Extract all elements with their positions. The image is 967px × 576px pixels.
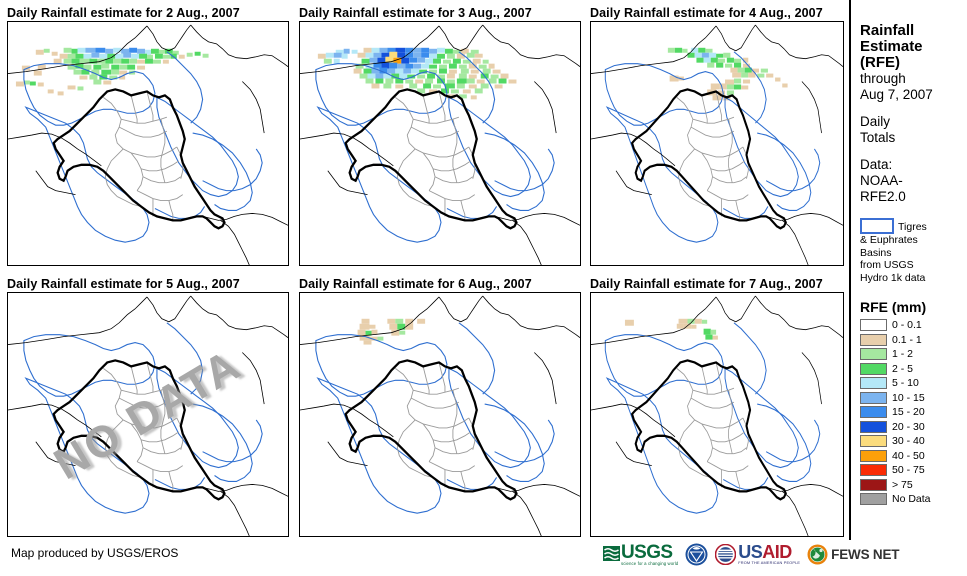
rain-cell xyxy=(718,59,725,63)
rain-cell xyxy=(344,49,350,54)
rain-cell xyxy=(691,325,696,329)
rain-cell xyxy=(411,69,419,74)
rain-cell xyxy=(64,48,72,53)
legend-swatch xyxy=(860,348,887,360)
rain-cell xyxy=(52,52,58,56)
rain-cell xyxy=(425,79,433,84)
rain-cell xyxy=(677,324,684,329)
rain-cell xyxy=(397,324,405,330)
rain-cell xyxy=(433,84,441,88)
rain-cell xyxy=(163,55,171,59)
rain-cell xyxy=(383,83,391,88)
rain-cell xyxy=(499,79,507,84)
rain-cell xyxy=(696,58,703,63)
rain-cell xyxy=(421,48,429,53)
rain-cell xyxy=(463,89,471,93)
rain-cell xyxy=(705,335,712,340)
fews-net-logo[interactable]: FEWS NET xyxy=(807,544,899,565)
rain-cell xyxy=(137,49,145,54)
rain-cell xyxy=(387,319,395,324)
rain-cell xyxy=(111,65,119,70)
rain-cell xyxy=(377,337,383,341)
rain-cell xyxy=(473,59,481,64)
rain-cell xyxy=(483,69,491,74)
sidebar-totals-line1: Daily xyxy=(860,114,967,130)
rain-cell xyxy=(159,50,165,54)
legend-swatch xyxy=(860,435,887,447)
rain-cell xyxy=(326,53,334,58)
fews-globe-icon xyxy=(807,544,828,565)
rain-cell xyxy=(111,70,119,75)
rain-cell xyxy=(501,74,509,79)
rain-cell xyxy=(354,69,362,74)
map-frame[interactable]: NO DATA xyxy=(7,292,289,537)
rain-cell xyxy=(405,80,413,84)
rain-cell xyxy=(782,83,787,87)
rain-cell xyxy=(68,85,76,89)
rain-cell xyxy=(489,64,495,69)
rain-cell xyxy=(429,54,437,59)
legend-row: 0.1 - 1 xyxy=(860,333,967,348)
usaid-label-aid: AID xyxy=(762,542,792,562)
neighbour-borders xyxy=(8,296,288,536)
legend-swatch xyxy=(860,421,887,433)
rain-cell xyxy=(362,319,370,324)
rain-cell xyxy=(727,84,734,89)
rain-cell xyxy=(145,59,153,64)
rain-cell xyxy=(405,64,413,69)
rain-cell xyxy=(48,89,54,93)
rain-cell xyxy=(395,69,403,74)
rain-cell xyxy=(425,59,433,64)
legend-swatch xyxy=(860,319,887,331)
rain-cell xyxy=(471,70,479,74)
rain-cell xyxy=(459,74,467,79)
usaid-label-us: US xyxy=(738,542,762,562)
rain-cell xyxy=(95,48,105,53)
rain-cell xyxy=(78,48,86,53)
legend-row: 50 - 75 xyxy=(860,463,967,478)
rain-cell xyxy=(469,75,477,79)
rain-cell xyxy=(682,49,687,53)
rain-cell xyxy=(679,319,688,324)
rain-cell xyxy=(775,78,780,82)
rain-cell xyxy=(397,64,405,69)
usgs-tagline: science for a changing world xyxy=(621,561,678,566)
map-svg xyxy=(8,293,288,536)
rain-cell xyxy=(734,79,741,84)
rain-cell xyxy=(76,54,84,59)
map-panel-2[interactable]: Daily Rainfall estimate for 3 Aug., 2007 xyxy=(299,5,581,266)
rain-cell xyxy=(324,59,332,64)
rain-cell xyxy=(447,54,455,59)
map-panel-5[interactable]: Daily Rainfall estimate for 6 Aug., 2007 xyxy=(299,276,581,537)
rain-cell xyxy=(360,324,370,330)
rain-cell xyxy=(730,68,737,73)
rain-cell xyxy=(423,83,431,88)
usgs-logo[interactable]: USGS science for a changing world xyxy=(603,544,678,566)
rain-cell xyxy=(738,68,745,73)
rain-cell xyxy=(495,84,503,88)
rain-cell xyxy=(370,58,378,63)
rain-cell xyxy=(113,59,121,64)
basin-legend: Tigres & Euphrates Basins from USGS Hydr… xyxy=(860,218,967,284)
rain-cell xyxy=(362,59,370,64)
rain-cell xyxy=(93,80,101,85)
rain-cell xyxy=(16,82,24,87)
map-frame[interactable] xyxy=(590,21,844,266)
rain-cell xyxy=(36,50,44,55)
rain-cell xyxy=(727,58,734,63)
rain-cell xyxy=(366,53,374,58)
rain-cell xyxy=(457,54,465,59)
rain-cell xyxy=(417,75,425,79)
rain-cell xyxy=(375,74,383,79)
rain-cell xyxy=(741,73,748,78)
rain-cell xyxy=(413,53,421,58)
rain-cell xyxy=(427,74,435,79)
rain-cell xyxy=(479,65,487,69)
rain-cell xyxy=(358,330,366,336)
legend-swatch xyxy=(860,464,887,476)
rfe-legend: 0 - 0.10.1 - 11 - 22 - 55 - 1010 - 1515 … xyxy=(860,318,967,507)
panel-title: Daily Rainfall estimate for 6 Aug., 2007 xyxy=(299,276,581,292)
rain-cell xyxy=(471,95,477,99)
noaa-seal-icon xyxy=(685,543,708,566)
rain-cell xyxy=(761,69,768,73)
panel-title: Daily Rainfall estimate for 5 Aug., 2007 xyxy=(7,276,289,292)
rain-cell xyxy=(417,319,425,324)
river-basins xyxy=(605,323,819,513)
rain-cell xyxy=(383,74,391,79)
rain-cell xyxy=(716,63,723,68)
rain-cell xyxy=(707,63,714,68)
rain-cell xyxy=(457,79,467,84)
agency-logos: USGS science for a changing world xyxy=(603,543,899,566)
rain-cell xyxy=(91,53,99,58)
rain-cell xyxy=(89,75,97,80)
map-frame[interactable] xyxy=(590,292,844,537)
legend-label: 5 - 10 xyxy=(892,377,919,389)
rain-cell xyxy=(429,65,437,69)
map-panel-4[interactable]: Daily Rainfall estimate for 5 Aug., 2007… xyxy=(7,276,289,537)
rain-cell xyxy=(459,65,467,69)
rain-cell xyxy=(461,69,469,74)
rain-cell xyxy=(121,59,129,64)
legend-label: 15 - 20 xyxy=(892,406,925,418)
legend-row: No Data xyxy=(860,492,967,507)
rain-cell xyxy=(389,324,397,330)
fews-net-label: FEWS NET xyxy=(831,547,899,562)
rain-cell xyxy=(483,60,489,64)
rain-cell xyxy=(711,330,716,335)
rain-cell xyxy=(119,65,127,70)
legend-label: 30 - 40 xyxy=(892,435,925,447)
noaa-logo[interactable] xyxy=(685,543,708,566)
rain-cell xyxy=(467,79,475,84)
sidebar-data-line3: RFE2.0 xyxy=(860,189,967,205)
neighbour-borders xyxy=(300,296,580,536)
rain-cell xyxy=(34,71,42,76)
rain-cell xyxy=(115,54,123,59)
rain-cell xyxy=(748,73,755,78)
rain-cell xyxy=(195,52,201,56)
rain-cell xyxy=(30,82,36,86)
sidebar-title-line3: (RFE) xyxy=(860,55,967,71)
iraq-border xyxy=(632,360,786,499)
rain-cell xyxy=(395,319,403,324)
rain-cell xyxy=(732,73,741,78)
rain-cell xyxy=(187,53,193,57)
legend-label: 50 - 75 xyxy=(892,464,925,476)
rain-cell xyxy=(409,83,417,88)
basin-label-1: Tigres xyxy=(898,218,927,233)
rain-cell xyxy=(443,60,451,64)
rain-cell xyxy=(439,65,447,69)
rain-cell xyxy=(64,59,72,64)
map-svg xyxy=(300,293,580,536)
rain-cell xyxy=(342,54,348,59)
rain-cell xyxy=(373,53,381,58)
rain-cell xyxy=(453,59,461,64)
rain-cell xyxy=(451,89,459,93)
legend-row: 15 - 20 xyxy=(860,405,967,420)
rain-cell xyxy=(723,53,730,58)
legend-row: 0 - 0.1 xyxy=(860,318,967,333)
rain-cell xyxy=(743,80,750,84)
rain-cell xyxy=(716,54,723,58)
rain-cell xyxy=(405,48,413,53)
legend-swatch xyxy=(860,493,887,505)
rfe-map-page: Daily Rainfall estimate for 2 Aug., 2007… xyxy=(0,0,967,576)
iraq-border xyxy=(54,360,225,499)
rain-cell xyxy=(123,53,131,58)
rain-cell xyxy=(364,48,372,53)
rain-cell xyxy=(725,64,732,68)
rain-cell xyxy=(44,49,50,53)
rain-cell xyxy=(734,59,741,63)
rain-cell xyxy=(395,84,403,88)
basin-swatch xyxy=(860,218,894,234)
rain-cell xyxy=(147,55,153,59)
rain-cell xyxy=(334,53,342,58)
rain-cell xyxy=(457,83,465,88)
map-svg xyxy=(591,22,843,265)
basin-label-2: & Euphrates xyxy=(860,234,967,247)
map-credit: Map produced by USGS/EROS xyxy=(11,546,178,560)
rain-cell xyxy=(334,59,340,64)
rain-cell xyxy=(409,58,417,63)
rain-cell xyxy=(704,329,711,335)
rain-cell xyxy=(366,79,374,84)
rain-cell xyxy=(433,59,441,64)
rain-cell xyxy=(704,58,711,63)
panel-title: Daily Rainfall estimate for 7 Aug., 2007 xyxy=(590,276,844,292)
rain-cell xyxy=(467,53,475,58)
rain-cell xyxy=(72,59,80,64)
rain-cell xyxy=(413,64,421,69)
legend-label: 0.1 - 1 xyxy=(892,334,922,346)
map-panel-3[interactable]: Daily Rainfall estimate for 4 Aug., 2007 xyxy=(590,5,844,266)
rain-cell xyxy=(705,49,712,53)
rain-cell xyxy=(399,331,405,335)
map-frame[interactable] xyxy=(299,21,581,266)
rain-cell xyxy=(370,325,376,329)
usaid-label: USAID xyxy=(738,544,800,560)
basin-label-4: from USGS xyxy=(860,259,967,272)
rain-cell xyxy=(711,83,720,89)
rain-cell xyxy=(429,49,437,54)
map-panel-1[interactable]: Daily Rainfall estimate for 2 Aug., 2007 xyxy=(7,5,289,266)
sidebar-through-date: Aug 7, 2007 xyxy=(860,87,967,103)
sidebar-title-line1: Rainfall xyxy=(860,23,967,39)
neighbour-borders xyxy=(591,296,843,536)
rain-cell xyxy=(709,53,716,58)
legend-row: > 75 xyxy=(860,478,967,493)
rain-cell xyxy=(445,49,453,54)
river-basins xyxy=(24,52,262,242)
legend-label: 0 - 0.1 xyxy=(892,319,922,331)
legend-label: No Data xyxy=(892,493,931,505)
legend-label: 1 - 2 xyxy=(892,348,913,360)
sidebar-through: through xyxy=(860,71,967,87)
rain-cell xyxy=(137,60,145,64)
rain-cell xyxy=(85,48,95,53)
legend-row: 2 - 5 xyxy=(860,362,967,377)
map-frame[interactable] xyxy=(7,21,289,266)
legend-row: 1 - 2 xyxy=(860,347,967,362)
river-basins xyxy=(24,323,262,513)
rain-cell xyxy=(447,74,455,79)
rain-cell xyxy=(405,319,413,324)
rain-cell xyxy=(385,57,393,64)
river-basins xyxy=(316,323,554,513)
usgs-wave-icon xyxy=(603,545,620,565)
rain-cell xyxy=(711,58,718,63)
rain-cell xyxy=(741,85,748,89)
rain-cell xyxy=(72,49,78,54)
rain-cell xyxy=(475,54,483,58)
legend-swatch xyxy=(860,406,887,418)
legend-swatch xyxy=(860,479,887,491)
panel-title: Daily Rainfall estimate for 4 Aug., 2007 xyxy=(590,5,844,21)
rain-cell xyxy=(509,80,517,84)
rain-cell xyxy=(417,58,425,63)
legend-row: 20 - 30 xyxy=(860,420,967,435)
rain-cell xyxy=(437,48,445,53)
rain-cell xyxy=(695,53,702,58)
rain-cell xyxy=(481,83,489,88)
rain-cell xyxy=(113,48,121,53)
rain-cell xyxy=(447,80,455,84)
legend-sidebar: Rainfall Estimate (RFE) through Aug 7, 2… xyxy=(849,0,967,540)
sidebar-title-line2: Estimate xyxy=(860,39,967,55)
rain-cell xyxy=(702,53,709,58)
rain-cell xyxy=(364,341,372,345)
rfe-legend-title: RFE (mm) xyxy=(860,299,967,315)
rain-cell xyxy=(415,80,423,84)
rain-cell xyxy=(203,54,209,58)
usaid-tagline: FROM THE AMERICAN PEOPLE xyxy=(738,560,800,565)
iraq-border xyxy=(54,89,225,228)
legend-label: 10 - 15 xyxy=(892,392,925,404)
rain-cell xyxy=(129,48,137,53)
rain-cell xyxy=(360,74,368,79)
rain-cell xyxy=(153,60,161,64)
legend-label: 40 - 50 xyxy=(892,450,925,462)
rainfall-raster xyxy=(358,319,426,345)
rain-cell xyxy=(101,64,109,69)
rain-cell xyxy=(445,83,455,88)
panel-title: Daily Rainfall estimate for 2 Aug., 2007 xyxy=(7,5,289,21)
legend-swatch xyxy=(860,392,887,404)
legend-swatch xyxy=(860,363,887,375)
legend-label: 2 - 5 xyxy=(892,363,913,375)
rain-cell xyxy=(171,54,177,59)
rainfall-raster xyxy=(625,319,718,340)
rain-cell xyxy=(491,75,499,79)
sidebar-data-line2: NOAA- xyxy=(860,173,967,189)
rain-cell xyxy=(352,50,358,54)
rain-cell xyxy=(475,88,483,93)
rain-cell xyxy=(439,69,447,74)
rain-cell xyxy=(375,79,383,84)
rain-cell xyxy=(421,53,429,58)
rain-cell xyxy=(179,55,185,59)
map-panel-6[interactable]: Daily Rainfall estimate for 7 Aug., 2007 xyxy=(590,276,844,537)
rain-cell xyxy=(379,48,387,53)
legend-label: 20 - 30 xyxy=(892,421,925,433)
map-svg xyxy=(591,293,843,536)
rain-cell xyxy=(387,69,395,74)
rain-cell xyxy=(74,70,82,75)
rain-cell xyxy=(403,69,411,74)
rain-cell xyxy=(368,74,376,79)
map-svg xyxy=(8,22,288,265)
map-frame[interactable] xyxy=(299,292,581,537)
rain-cell xyxy=(625,320,634,326)
rain-cell xyxy=(83,54,91,59)
rain-cell xyxy=(766,74,773,78)
iraq-border xyxy=(632,89,786,228)
rain-cell xyxy=(318,54,326,59)
legend-row: 5 - 10 xyxy=(860,376,967,391)
rain-cell xyxy=(137,66,145,70)
rain-cell xyxy=(38,83,44,87)
rain-cell xyxy=(675,48,682,53)
rain-cell xyxy=(668,48,675,53)
rain-cell xyxy=(105,49,113,54)
legend-swatch xyxy=(860,450,887,462)
rain-cell xyxy=(101,70,111,75)
rain-cell xyxy=(364,69,372,74)
rain-cell xyxy=(54,59,62,64)
rain-cell xyxy=(385,79,393,84)
rain-cell xyxy=(437,54,445,59)
rain-cell xyxy=(399,74,407,79)
legend-label: > 75 xyxy=(892,479,913,491)
river-basins xyxy=(605,52,819,242)
usaid-logo[interactable]: USAID FROM THE AMERICAN PEOPLE xyxy=(715,544,800,565)
iraq-border xyxy=(346,89,517,228)
rain-cell xyxy=(371,48,379,53)
legend-row: 10 - 15 xyxy=(860,391,967,406)
rain-cell xyxy=(469,84,477,88)
rain-cell xyxy=(401,58,409,64)
usaid-seal-icon xyxy=(715,544,736,565)
rain-cell xyxy=(163,60,169,64)
rainfall-raster xyxy=(16,48,209,96)
